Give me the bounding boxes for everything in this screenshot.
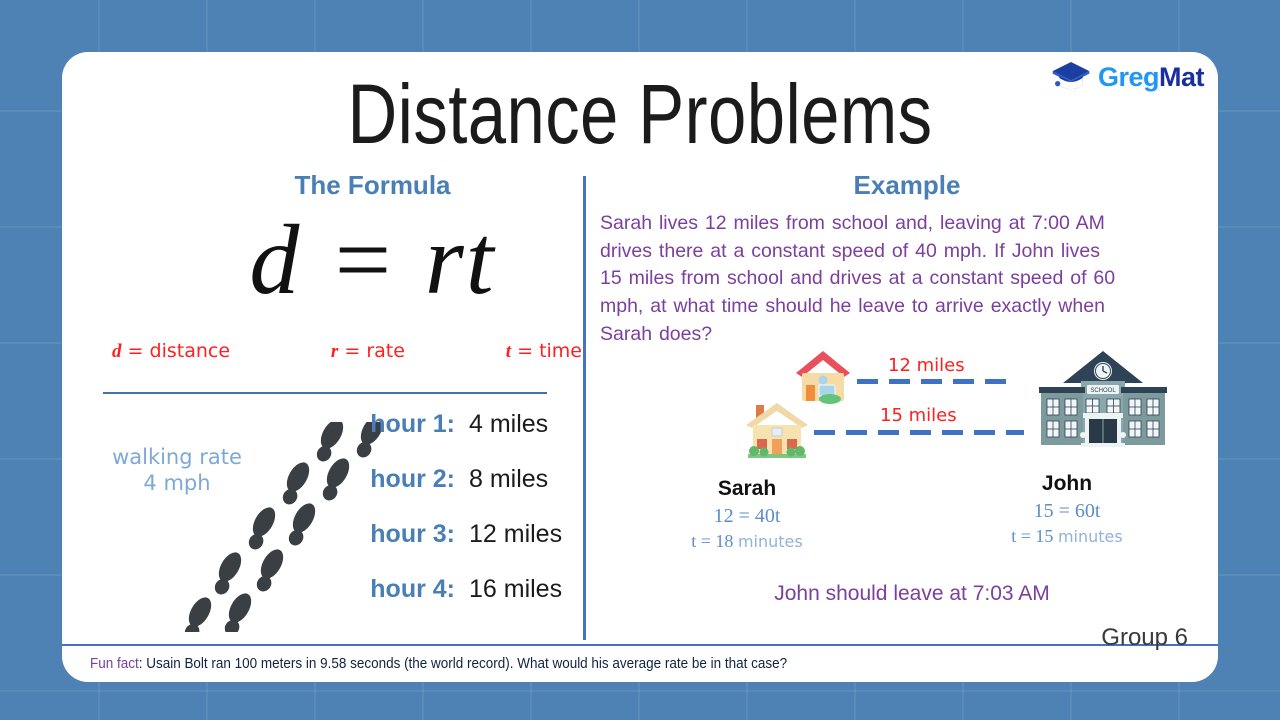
page-title: Distance Problems [166, 70, 1114, 158]
legend-meaning-time: time [539, 340, 582, 362]
school-building-icon: SCHOOL [1037, 347, 1169, 464]
distance-formula: d = rt [170, 202, 575, 317]
person-name-john: John [967, 472, 1167, 496]
table-row: hour 2: 8 miles [347, 465, 587, 520]
formula-legend: d = distance r = rate t = time [112, 340, 582, 363]
formula-section-heading: The Formula [170, 170, 575, 201]
logo-text-mat: Mat [1159, 62, 1204, 92]
legend-item-rate: r = rate [331, 340, 405, 363]
john-time-value: t = 15 [1011, 526, 1058, 546]
table-row: hour 3: 12 miles [347, 520, 587, 575]
example-section-heading: Example [607, 170, 1207, 201]
horizontal-rule [103, 392, 547, 394]
hour-value-2: 8 miles [455, 465, 548, 494]
hour-label-1: hour 1: [347, 410, 455, 439]
legend-item-time: t = time [506, 340, 582, 363]
legend-item-distance: d = distance [112, 340, 230, 363]
hour-label-2: hour 2: [347, 465, 455, 494]
john-solution-time: t = 15 minutes [967, 526, 1167, 547]
final-answer: John should leave at 7:03 AM [662, 582, 1162, 606]
hours-distance-table: hour 1: 4 miles hour 2: 8 miles hour 3: … [347, 410, 587, 630]
sarah-equation: 12 = 40t [657, 505, 837, 528]
legend-eq-1: = [344, 340, 360, 362]
problem-statement: Sarah lives 12 miles from school and, le… [600, 210, 1120, 348]
school-sign-text: SCHOOL [1090, 388, 1116, 394]
sarah-solution: Sarah 12 = 40t t = 18 minutes [657, 477, 837, 552]
sarah-time-unit: minutes [738, 532, 803, 551]
legend-var-t: t [506, 341, 511, 362]
sarah-time-value: t = 18 [691, 531, 738, 551]
footer-divider [62, 644, 1218, 646]
hour-label-3: hour 3: [347, 520, 455, 549]
house-icon [742, 399, 812, 466]
legend-var-d: d [112, 341, 122, 362]
person-name-sarah: Sarah [657, 477, 837, 501]
group-label: Group 6 [1101, 624, 1188, 652]
distance-label-12-miles: 12 miles [888, 355, 965, 376]
table-row: hour 4: 16 miles [347, 575, 587, 630]
legend-var-r: r [331, 341, 338, 362]
hour-value-3: 12 miles [455, 520, 562, 549]
fun-fact-tag: Fun fact [90, 656, 139, 672]
distance-diagram: SCHOOL [592, 347, 1192, 477]
john-solution: John 15 = 60t t = 15 minutes [967, 472, 1167, 547]
fun-fact-text: : Usain Bolt ran 100 meters in 9.58 seco… [139, 656, 787, 672]
distance-label-15-miles: 15 miles [880, 405, 957, 426]
legend-meaning-rate: rate [366, 340, 405, 362]
legend-eq-0: = [128, 340, 144, 362]
sarah-solution-time: t = 18 minutes [657, 531, 837, 552]
table-row: hour 1: 4 miles [347, 410, 587, 465]
dashed-line-15-miles [814, 430, 1024, 435]
hour-value-1: 4 miles [455, 410, 548, 439]
dashed-line-12-miles [857, 379, 1017, 384]
hour-label-4: hour 4: [347, 575, 455, 604]
john-time-unit: minutes [1058, 527, 1123, 546]
legend-meaning-distance: distance [150, 340, 231, 362]
slide-card: GregMat Distance Problems The Formula d … [62, 52, 1218, 682]
hour-value-4: 16 miles [455, 575, 562, 604]
legend-eq-2: = [517, 340, 533, 362]
john-equation: 15 = 60t [967, 500, 1167, 523]
fun-fact-note: Fun fact: Usain Bolt ran 100 meters in 9… [90, 656, 787, 672]
